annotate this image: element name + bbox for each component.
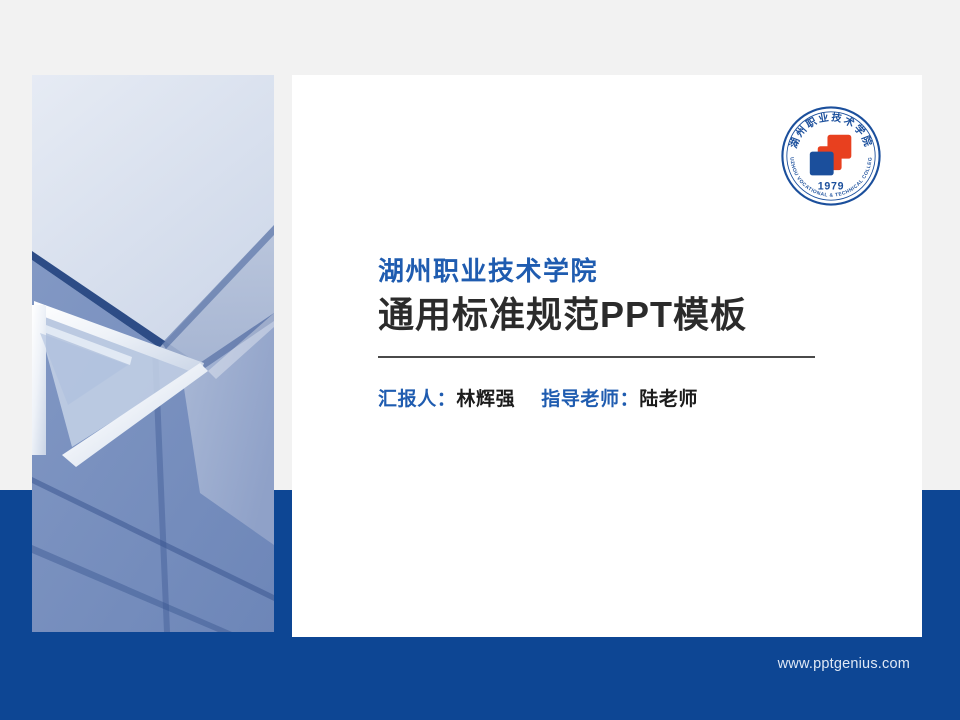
advisor-label: 指导老师：: [541, 389, 639, 410]
watermark-url: www.pptgenius.com: [778, 656, 910, 672]
college-logo: 湖州职业技术学院 HUZHOU VOCATIONAL & TECHNICAL C…: [778, 103, 884, 209]
divider: [378, 356, 815, 358]
architecture-photo-illustration: [32, 75, 274, 632]
content-card: 湖州职业技术学院 HUZHOU VOCATIONAL & TECHNICAL C…: [292, 75, 922, 637]
title-text-block: 湖州职业技术学院 通用标准规范PPT模板 汇报人：林辉强指导老师：陆老师: [378, 255, 828, 411]
title-slide: www.pptgenius.com: [0, 0, 960, 720]
presenter-info: 汇报人：林辉强指导老师：陆老师: [378, 384, 828, 411]
cover-photo: [32, 75, 274, 632]
page-title: 通用标准规范PPT模板: [378, 292, 828, 339]
advisor-name: 陆老师: [639, 389, 698, 410]
school-name: 湖州职业技术学院: [378, 255, 828, 288]
presenter-label: 汇报人：: [378, 389, 456, 410]
svg-text:1979: 1979: [818, 181, 844, 193]
presenter-name: 林辉强: [456, 389, 515, 410]
college-seal-icon: 湖州职业技术学院 HUZHOU VOCATIONAL & TECHNICAL C…: [778, 103, 884, 209]
